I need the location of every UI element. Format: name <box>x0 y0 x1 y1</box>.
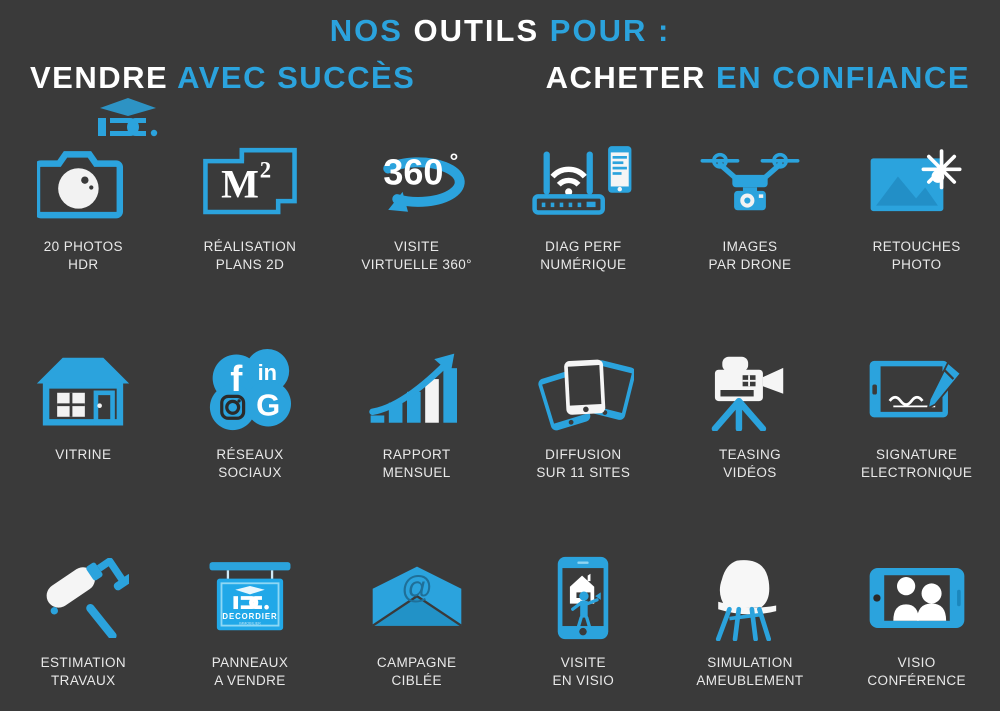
drone-icon <box>685 136 815 228</box>
title-part-pour: POUR : <box>550 13 671 48</box>
tool-item-e-signature[interactable]: SIGNATURE ELECTRONIQUE <box>833 340 1000 548</box>
caption: RÉALISATION PLANS 2D <box>204 238 297 274</box>
tools-grid: 20 PHOTOS HDR M 2 RÉALISATION PLANS 2D 3… <box>0 132 1000 711</box>
subtitle-buy-blue: EN CONFIANCE <box>716 60 970 95</box>
tool-item-social[interactable]: f in G RÉSEAUX SOCIAUX <box>167 340 334 548</box>
tool-item-video-visit[interactable]: VISITE EN VISIO <box>500 548 667 711</box>
svg-text:in: in <box>258 360 277 385</box>
tool-item-teasing-video[interactable]: TEASING VIDÉOS <box>667 340 834 548</box>
router-wifi-phone-icon <box>518 136 648 228</box>
floorplan-m2-icon: M 2 <box>185 136 315 228</box>
caption: RAPPORT MENSUEL <box>383 446 451 482</box>
phone-house-visit-icon <box>518 552 648 644</box>
social-networks-icon: f in G <box>185 344 315 436</box>
tool-item-targeted-campaign[interactable]: @ CAMPAGNE CIBLÉE <box>333 548 500 711</box>
svg-text:G: G <box>256 388 280 423</box>
tool-item-digital-diag[interactable]: DIAG PERF NUMÉRIQUE <box>500 132 667 340</box>
tool-item-works-estimate[interactable]: ESTIMATION TRAVAUX <box>0 548 167 711</box>
title-part-nos: NOS <box>330 13 403 48</box>
caption: RETOUCHES PHOTO <box>873 238 961 274</box>
subtitle-buy: ACHETER EN CONFIANCE <box>546 60 970 96</box>
svg-text:°: ° <box>449 149 458 174</box>
caption: VISIO CONFÉRENCE <box>867 654 966 690</box>
tool-item-camera[interactable]: 20 PHOTOS HDR <box>0 132 167 340</box>
photo-sparkle-icon <box>852 136 982 228</box>
svg-text:M: M <box>221 161 259 206</box>
tool-item-drone[interactable]: IMAGES PAR DRONE <box>667 132 834 340</box>
360-rotation-icon: 360 ° <box>352 136 482 228</box>
chair-icon <box>685 552 815 644</box>
svg-text:IMMOBILIER: IMMOBILIER <box>239 622 261 626</box>
paint-roller-icon <box>18 552 148 644</box>
caption: VISITE VIRTUELLE 360° <box>361 238 472 274</box>
svg-text:360: 360 <box>383 152 443 193</box>
tablet-people-icon <box>852 552 982 644</box>
subtitle-sell-white: VENDRE <box>30 60 168 95</box>
svg-text:@: @ <box>401 570 433 605</box>
subtitle-sell: VENDRE AVEC SUCCÈS <box>30 60 415 96</box>
tablets-icon <box>518 344 648 436</box>
tool-item-floorplan[interactable]: M 2 RÉALISATION PLANS 2D <box>167 132 334 340</box>
caption: PANNEAUX A VENDRE <box>212 654 288 690</box>
caption: CAMPAGNE CIBLÉE <box>377 654 456 690</box>
subtitle-row: VENDRE AVEC SUCCÈS ACHETER EN CONFIANCE <box>0 48 1000 96</box>
title-part-outils: OUTILS <box>414 13 540 48</box>
tool-item-photo-retouch[interactable]: RETOUCHES PHOTO <box>833 132 1000 340</box>
caption: SIGNATURE ELECTRONIQUE <box>861 446 972 482</box>
envelope-at-icon: @ <box>352 552 482 644</box>
caption: RÉSEAUX SOCIAUX <box>216 446 283 482</box>
caption: SIMULATION AMEUBLEMENT <box>696 654 803 690</box>
caption: 20 PHOTOS HDR <box>44 238 123 274</box>
tool-item-video-conference[interactable]: VISIO CONFÉRENCE <box>833 548 1000 711</box>
tool-item-vitrine[interactable]: VITRINE <box>0 340 167 548</box>
tool-item-virtual-tour[interactable]: 360 ° VISITE VIRTUELLE 360° <box>333 132 500 340</box>
subtitle-buy-white: ACHETER <box>546 60 706 95</box>
video-camera-tripod-icon <box>685 344 815 436</box>
svg-text:f: f <box>230 358 243 399</box>
svg-text:2: 2 <box>260 157 271 182</box>
caption: DIAG PERF NUMÉRIQUE <box>540 238 626 274</box>
house-shop-icon <box>18 344 148 436</box>
caption: DIFFUSION SUR 11 SITES <box>536 446 630 482</box>
tool-item-for-sale-sign[interactable]: DECORDIER IMMOBILIER PANNEAUX A VENDRE <box>167 548 334 711</box>
hanging-sign-icon: DECORDIER IMMOBILIER <box>185 552 315 644</box>
tool-item-furniture-sim[interactable]: SIMULATION AMEUBLEMENT <box>667 548 834 711</box>
subtitle-sell-blue: AVEC SUCCÈS <box>177 60 415 95</box>
tool-item-report[interactable]: RAPPORT MENSUEL <box>333 340 500 548</box>
page-title: NOS OUTILS POUR : <box>0 14 1000 48</box>
tablet-signature-pen-icon <box>852 344 982 436</box>
camera-icon <box>18 136 148 228</box>
tool-item-diffusion[interactable]: DIFFUSION SUR 11 SITES <box>500 340 667 548</box>
page-header: NOS OUTILS POUR : VENDRE AVEC SUCCÈS ACH… <box>0 0 1000 96</box>
caption: IMAGES PAR DRONE <box>709 238 792 274</box>
caption: VITRINE <box>55 446 111 464</box>
growth-chart-icon <box>352 344 482 436</box>
caption: TEASING VIDÉOS <box>719 446 781 482</box>
sign-brand-text: DECORDIER <box>222 612 277 621</box>
caption: VISITE EN VISIO <box>552 654 614 690</box>
caption: ESTIMATION TRAVAUX <box>41 654 127 690</box>
